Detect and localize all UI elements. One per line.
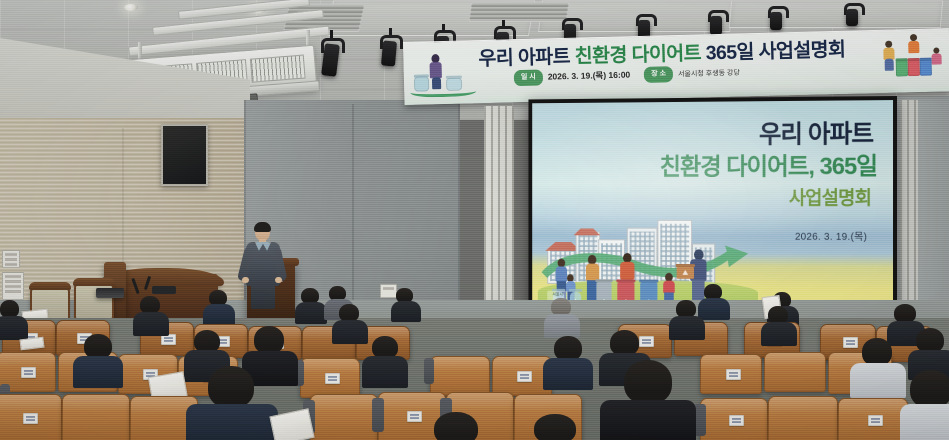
audience-member: [906, 370, 949, 440]
banner-place-pill: 장 소: [644, 66, 673, 83]
audience-shoulders: [391, 301, 421, 322]
banner-figure-body: [931, 53, 941, 64]
audience-member: [0, 300, 28, 340]
banner-place-value: 서울시청 후생동 강당: [678, 70, 740, 79]
presenter-legs: [251, 283, 275, 309]
stage-spotlight: [766, 4, 786, 32]
banner-bin-blue: [920, 60, 932, 76]
audience-shoulders: [543, 358, 593, 390]
seat-number-tag: [407, 411, 422, 422]
auditorium-seat[interactable]: [0, 394, 62, 440]
audience-member: [366, 336, 404, 388]
auditorium-seat[interactable]: [700, 398, 768, 440]
banner-date-value: 2026. 3. 19.(목) 16:00: [548, 70, 631, 82]
banner-title-part3: 365일: [705, 41, 758, 64]
slide-title-line2: 친환경 다이어트, 365일: [660, 146, 877, 181]
auditorium-photo: 우리 아파트 친환경 다이어트 365일 사업설명회 일 시2026. 3. 1…: [0, 0, 949, 440]
banner-title-part2: 친환경 다이어트: [574, 42, 706, 67]
seat-armrest: [424, 358, 434, 384]
audience-member: [393, 288, 419, 322]
auditorium-seat[interactable]: [838, 398, 908, 440]
banner-figure-skirt: [885, 59, 894, 71]
banner-green-swoosh: [410, 83, 476, 98]
audience-shoulders: [133, 312, 169, 336]
banner-left-illustration: [409, 49, 478, 101]
audience-shoulders: [600, 400, 696, 440]
stage-curtain: [484, 106, 514, 320]
seat-number-tag: [517, 371, 532, 382]
audience-member: [856, 338, 900, 398]
ceiling-panel: [729, 0, 943, 28]
stage-spotlight: [842, 2, 862, 28]
audience-shoulders: [73, 356, 123, 388]
slide-date: 2026. 3. 19.(목): [795, 228, 867, 243]
banner-right-illustration: [881, 33, 946, 89]
banner-figure-body: [908, 41, 919, 53]
auditorium-seat[interactable]: [700, 354, 762, 394]
desk-equipment: [152, 286, 176, 294]
audience-head: [208, 366, 254, 408]
ac-grille: [250, 55, 306, 83]
seat-number-tag: [21, 367, 36, 378]
presenter-hand-left: [242, 277, 249, 283]
audience-shoulders: [900, 404, 949, 440]
audience-head: [910, 370, 949, 408]
seat-number-tag: [325, 373, 340, 384]
audience-shoulders: [544, 314, 580, 338]
banner-figure-body: [430, 62, 442, 78]
audience-shoulders: [203, 304, 235, 326]
presenter-hand-right: [275, 277, 282, 283]
seat-number-tag: [23, 413, 38, 424]
wall-switch-panel: [2, 272, 24, 300]
audience-shoulders: [186, 404, 278, 440]
audience-head: [624, 360, 672, 404]
audience-member: [612, 360, 684, 440]
audience-member: [78, 334, 118, 388]
audience-member: [428, 412, 484, 440]
auditorium-seat[interactable]: [300, 358, 360, 398]
audience-member: [297, 288, 325, 324]
spotlight-body: [710, 16, 722, 35]
audience-member: [530, 414, 580, 440]
spotlight-body: [846, 9, 858, 26]
audience-member: [672, 300, 702, 340]
audience-member: [700, 284, 728, 320]
slide-title-line3: 사업설명회: [789, 183, 871, 210]
audience-shoulders: [0, 316, 28, 340]
wall-seam: [352, 104, 354, 319]
recycling-box: [677, 267, 694, 279]
presenter: [241, 223, 285, 308]
chair-crest-rail: [73, 278, 115, 286]
stage-curtain: [900, 100, 918, 318]
stage-spotlight: [378, 28, 402, 70]
auditorium-seat[interactable]: [764, 352, 826, 392]
seat-armrest: [372, 398, 384, 432]
seat-number-tag: [868, 415, 883, 426]
laptop-on-table: [96, 288, 124, 298]
banner-bin-red: [908, 60, 920, 76]
chair-crest-rail: [29, 282, 71, 290]
audience-member: [335, 304, 365, 344]
audience-shoulders: [850, 363, 906, 398]
banner-bin-green: [896, 60, 908, 76]
audience-head: [254, 326, 284, 354]
audience-member: [196, 366, 266, 440]
auditorium-seat[interactable]: [62, 394, 130, 440]
spotlight-body: [381, 40, 397, 66]
audience-member: [764, 306, 794, 346]
wall-seam: [458, 104, 460, 316]
audience-shoulders: [761, 322, 797, 346]
audience-member: [548, 336, 588, 390]
seat-number-tag: [729, 415, 744, 426]
stage-spotlight: [318, 30, 344, 82]
auditorium-seat[interactable]: [768, 396, 838, 440]
audience-member: [136, 296, 166, 336]
audience-member: [547, 298, 577, 338]
audience-shoulders: [698, 298, 730, 320]
ceiling-vent: [469, 2, 570, 22]
presenter-hair: [254, 222, 271, 232]
auditorium-seat[interactable]: [430, 356, 490, 396]
spotlight-body: [770, 12, 782, 30]
spotlight-body: [321, 43, 340, 77]
banner-title-part4: 사업설명회: [758, 39, 845, 63]
wall-mounted-board: [161, 124, 208, 186]
building-roof: [574, 228, 601, 235]
banner-title-part1: 우리 아파트: [478, 46, 575, 70]
wall-switch-panel: [2, 250, 20, 268]
auditorium-seat[interactable]: [310, 394, 378, 440]
audience-head: [534, 414, 576, 440]
audience-shoulders: [332, 320, 368, 344]
banner-date-pill: 일 시: [514, 69, 543, 86]
audience-shoulders: [669, 316, 705, 340]
audience-shoulders: [362, 356, 408, 388]
audience-head: [862, 338, 892, 366]
slide-title-line1: 우리 아파트: [759, 114, 873, 150]
audience-head: [434, 412, 478, 440]
audience-shoulders: [295, 302, 327, 324]
audience-member: [205, 290, 233, 326]
seat-number-tag: [726, 369, 741, 380]
figure-torso: [620, 262, 634, 280]
